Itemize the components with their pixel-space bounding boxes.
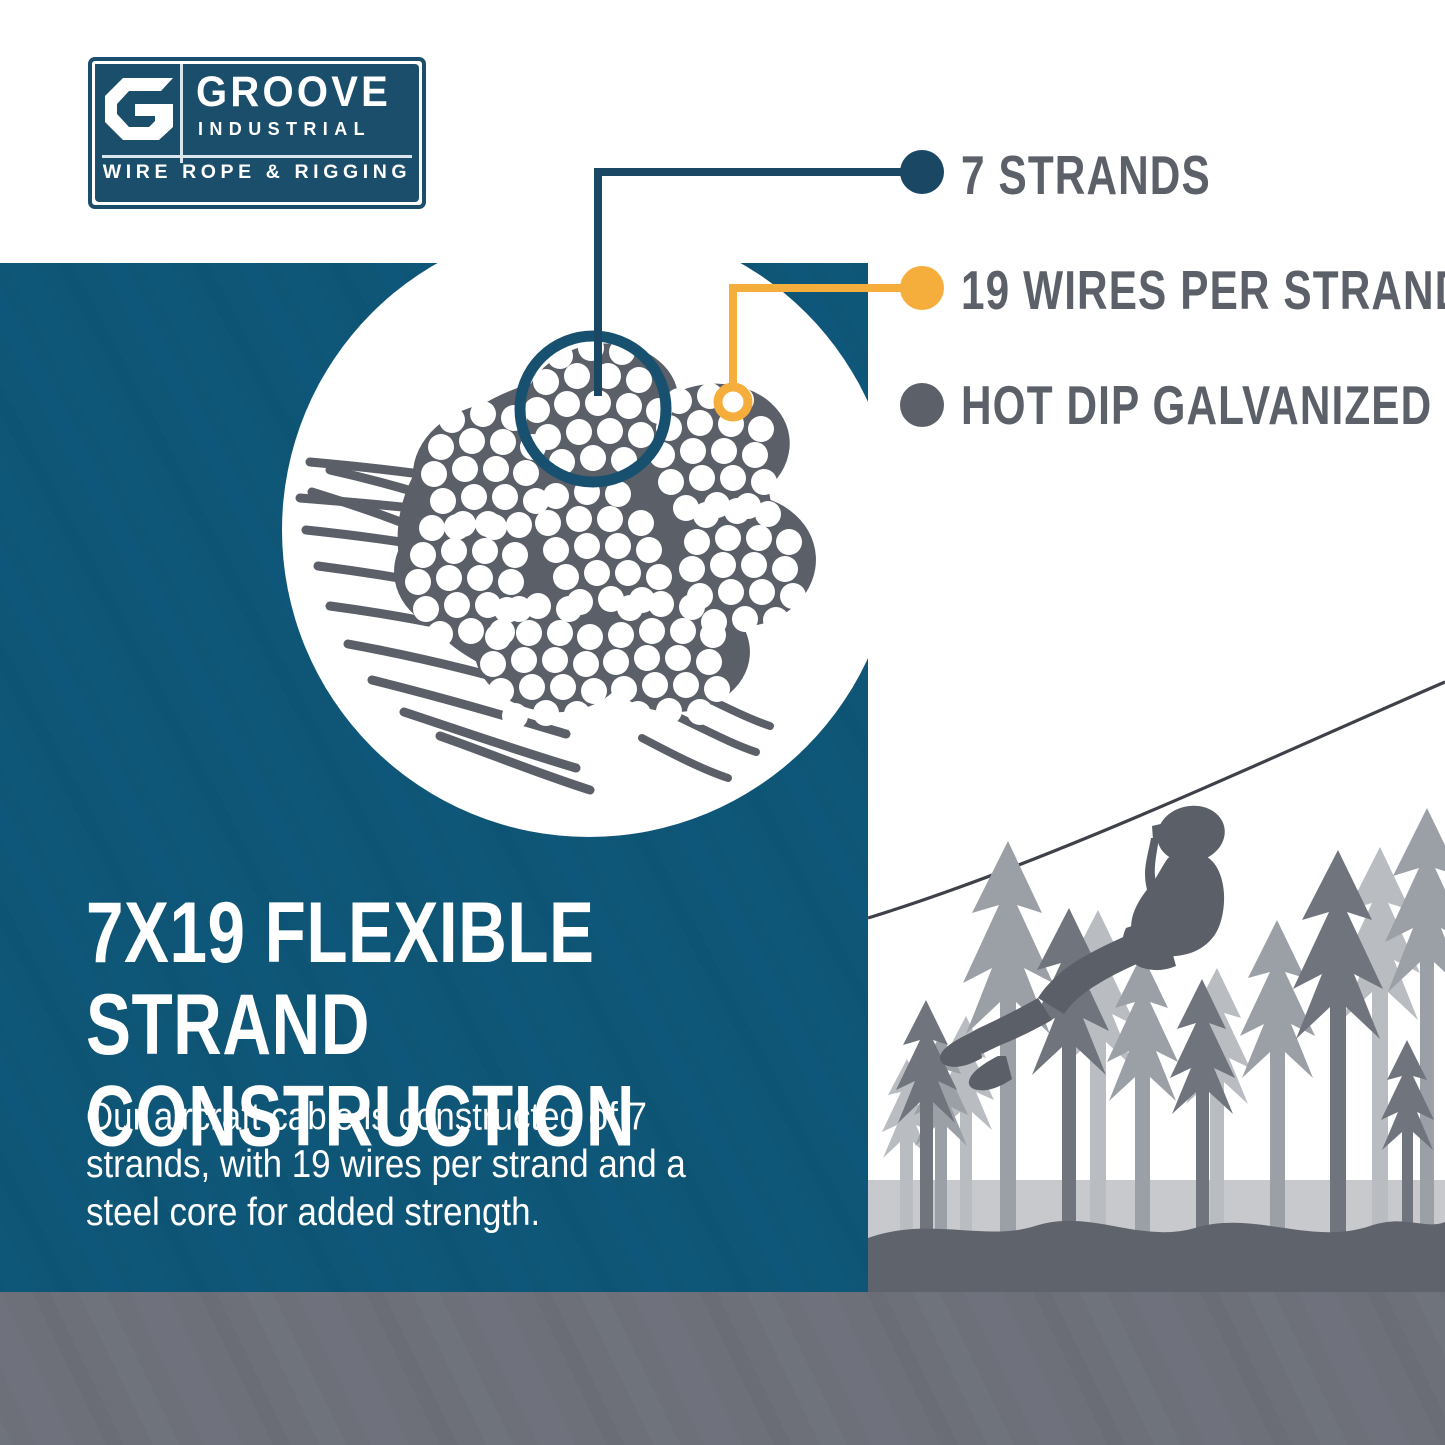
callout-label-strands: 7 STRANDS <box>961 148 1211 202</box>
logo-mark-box <box>95 64 183 163</box>
groove-g-monogram-icon <box>105 78 177 140</box>
logo-divider <box>102 155 412 158</box>
logo-subtitle: INDUSTRIAL <box>198 119 416 140</box>
logo-tagline: WIRE ROPE & RIGGING <box>88 161 426 184</box>
body-copy: Our aircraft cable is constructed of 7 s… <box>86 1093 726 1236</box>
footer-band <box>0 1292 1445 1445</box>
callout-dot-0 <box>900 150 944 194</box>
infographic-canvas: GROOVE INDUSTRIAL WIRE ROPE & RIGGING 7 … <box>0 0 1445 1445</box>
zipline-scene <box>868 620 1445 1292</box>
callout-dots <box>900 150 944 427</box>
brand-logo[interactable]: GROOVE INDUSTRIAL WIRE ROPE & RIGGING <box>88 57 426 209</box>
headline-line-1: 7X19 FLEXIBLE <box>86 888 808 980</box>
callout-label-wires-per-strand: 19 WIRES PER STRAND <box>961 263 1445 317</box>
callout-dot-1 <box>900 266 944 310</box>
logo-wordmark: GROOVE <box>196 70 401 115</box>
callout-dot-2 <box>900 383 944 427</box>
callout-label-galvanized: HOT DIP GALVANIZED <box>961 378 1432 432</box>
